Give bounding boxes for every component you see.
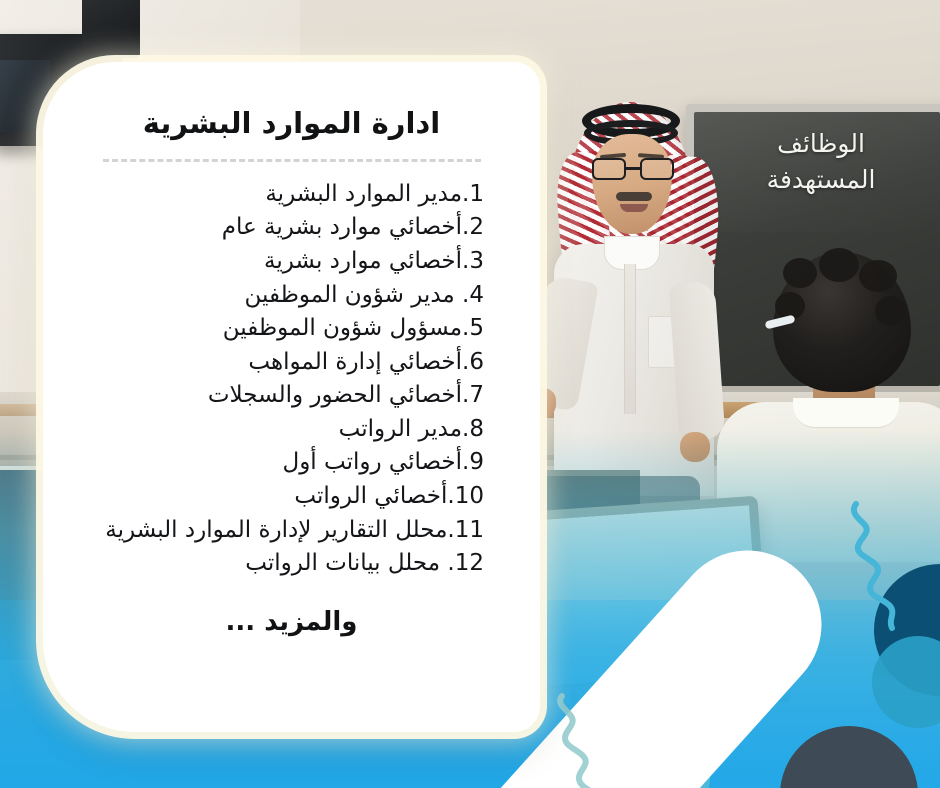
student-hair-curl — [859, 260, 897, 292]
list-item: 11.محلل التقارير لإدارة الموارد البشرية — [83, 514, 484, 548]
teacher-mouth — [620, 204, 648, 212]
student-hair-curl — [819, 248, 859, 282]
glasses-bridge — [626, 167, 640, 170]
page-title: ادارة الموارد البشرية — [77, 106, 506, 141]
student-hair-curl — [875, 296, 907, 326]
glasses-icon — [590, 158, 676, 180]
board-heading-line-1: الوظائف — [716, 126, 926, 162]
more-label: والمزيد ... — [77, 607, 506, 637]
list-item: 6.أخصائي إدارة المواهب — [83, 346, 484, 380]
content-card: ادارة الموارد البشرية 1.مدير الموارد الب… — [43, 62, 540, 732]
glasses-lens-right — [640, 158, 674, 180]
list-item: 1.مدير الموارد البشرية — [83, 178, 484, 212]
list-item: 10.أخصائي الرواتب — [83, 480, 484, 514]
student-collar — [793, 398, 899, 428]
list-item: 4. مدير شؤون الموظفين — [83, 279, 484, 313]
board-heading-line-2: المستهدفة — [716, 162, 926, 198]
glasses-lens-left — [592, 158, 626, 180]
card-inner: ادارة الموارد البشرية 1.مدير الموارد الب… — [43, 62, 540, 732]
list-item: 2.أخصائي موارد بشرية عام — [83, 211, 484, 245]
board-heading: الوظائف المستهدفة — [716, 126, 926, 197]
poster-canvas: الوظائف المستهدفة ادارة الموارد البشرية … — [0, 0, 940, 788]
list-item: 9.أخصائي رواتب أول — [83, 446, 484, 480]
teacher-arm-right — [669, 281, 726, 442]
list-item: 5.مسؤول شؤون الموظفين — [83, 312, 484, 346]
student-hair-curl — [783, 258, 817, 288]
title-divider — [103, 159, 481, 162]
job-list: 1.مدير الموارد البشرية2.أخصائي موارد بشر… — [77, 178, 506, 581]
list-item: 3.أخصائي موارد بشرية — [83, 245, 484, 279]
teacher-moustache — [616, 192, 652, 201]
projector-mount-icon — [82, 0, 140, 58]
list-item: 7.أخصائي الحضور والسجلات — [83, 379, 484, 413]
list-item: 8.مدير الرواتب — [83, 413, 484, 447]
thobe-placket — [624, 264, 636, 414]
list-item: 12. محلل بيانات الرواتب — [83, 547, 484, 581]
